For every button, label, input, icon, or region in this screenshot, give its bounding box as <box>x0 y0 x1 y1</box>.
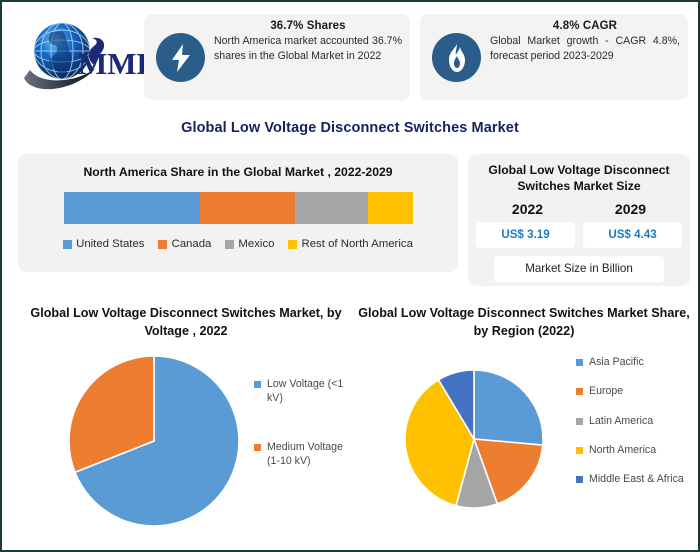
stat-card-cagr-title: 4.8% CAGR <box>490 20 680 34</box>
pie-legend-label: North America <box>589 443 656 457</box>
bar-chart-title: North America Share in the Global Market… <box>18 165 458 179</box>
bar-legend-label: Rest of North America <box>301 238 412 250</box>
bar-segment-rest-of-north-america <box>368 192 413 224</box>
pie-legend-item: North America <box>576 443 692 457</box>
pie-legend-item: Europe <box>576 384 692 398</box>
market-size-year-2022: 2022 <box>476 201 579 217</box>
pie-legend-label: Europe <box>589 384 623 398</box>
pie-legend-item: Medium Voltage (1-10 kV) <box>254 440 354 469</box>
market-size-title: Global Low Voltage Disconnect Switches M… <box>474 162 684 194</box>
stat-card-cagr-body: 4.8% CAGR Global Market growth - CAGR 4.… <box>490 20 680 64</box>
market-size-years: 2022 2029 <box>476 201 682 217</box>
stat-card-cagr: 4.8% CAGR Global Market growth - CAGR 4.… <box>420 14 688 100</box>
stacked-bar <box>64 192 413 224</box>
bar-segment-canada <box>200 192 295 224</box>
bar-legend-item: Rest of North America <box>288 238 412 250</box>
bar-segment-mexico <box>295 192 368 224</box>
infographic-canvas: MMR 36.7% Shares North America market ac… <box>0 0 700 552</box>
voltage-pie-legend: Low Voltage (<1 kV)Medium Voltage (1-10 … <box>254 377 354 502</box>
bar-chart-legend: United StatesCanadaMexicoRest of North A… <box>18 238 458 250</box>
stat-card-shares-text: North America market accounted 36.7% sha… <box>214 34 402 64</box>
legend-swatch-icon <box>63 240 72 249</box>
header-section: MMR 36.7% Shares North America market ac… <box>2 2 698 112</box>
pie-legend-item: Asia Pacific <box>576 355 692 369</box>
pie-slice-asia-pacific <box>474 370 543 445</box>
mmr-logo: MMR <box>16 12 144 104</box>
pie-legend-label: Medium Voltage (1-10 kV) <box>267 440 354 469</box>
voltage-pie-title: Global Low Voltage Disconnect Switches M… <box>16 305 356 341</box>
pie-legend-label: Middle East & Africa <box>589 472 684 486</box>
stat-card-shares: 36.7% Shares North America market accoun… <box>144 14 410 100</box>
market-size-panel: Global Low Voltage Disconnect Switches M… <box>468 154 690 286</box>
region-pie-graphic <box>404 369 544 509</box>
voltage-pie-graphic <box>68 355 240 527</box>
bar-legend-item: Canada <box>158 238 211 250</box>
globe-swoosh-logo: MMR <box>16 12 144 104</box>
pie-legend-label: Low Voltage (<1 kV) <box>267 377 354 406</box>
market-size-values: US$ 3.19 US$ 4.43 <box>476 222 682 248</box>
legend-swatch-icon <box>576 476 583 483</box>
stat-card-shares-title: 36.7% Shares <box>214 20 402 34</box>
pie-legend-label: Latin America <box>589 414 653 428</box>
bar-legend-item: United States <box>63 238 144 250</box>
legend-swatch-icon <box>254 444 261 451</box>
legend-swatch-icon <box>158 240 167 249</box>
market-size-year-2029: 2029 <box>579 201 682 217</box>
market-size-value-2029: US$ 4.43 <box>583 222 682 248</box>
stat-card-cagr-text: Global Market growth - CAGR 4.8%, foreca… <box>490 34 680 64</box>
north-america-share-chart: North America Share in the Global Market… <box>18 154 458 272</box>
legend-swatch-icon <box>576 447 583 454</box>
legend-swatch-icon <box>576 388 583 395</box>
stat-card-shares-body: 36.7% Shares North America market accoun… <box>214 20 402 64</box>
pie-legend-item: Middle East & Africa <box>576 472 692 486</box>
bar-segment-united-states <box>64 192 200 224</box>
legend-swatch-icon <box>576 359 583 366</box>
market-size-value-2022: US$ 3.19 <box>476 222 575 248</box>
region-pie-title: Global Low Voltage Disconnect Switches M… <box>358 305 690 341</box>
bar-legend-label: United States <box>76 238 144 250</box>
bar-legend-label: Canada <box>171 238 211 250</box>
market-size-unit-label: Market Size in Billion <box>494 256 664 282</box>
bar-legend-label: Mexico <box>238 238 274 250</box>
lightning-bolt-icon <box>156 33 205 82</box>
voltage-pie-chart: Global Low Voltage Disconnect Switches M… <box>16 297 356 547</box>
pie-legend-item: Latin America <box>576 414 692 428</box>
page-title: Global Low Voltage Disconnect Switches M… <box>2 120 698 136</box>
legend-swatch-icon <box>225 240 234 249</box>
legend-swatch-icon <box>576 418 583 425</box>
legend-swatch-icon <box>288 240 297 249</box>
flame-icon <box>432 33 481 82</box>
bar-legend-item: Mexico <box>225 238 274 250</box>
legend-swatch-icon <box>254 381 261 388</box>
region-pie-chart: Global Low Voltage Disconnect Switches M… <box>358 297 690 547</box>
svg-text:MMR: MMR <box>78 46 144 81</box>
region-pie-legend: Asia PacificEuropeLatin AmericaNorth Ame… <box>576 355 692 501</box>
pie-legend-label: Asia Pacific <box>589 355 644 369</box>
pie-legend-item: Low Voltage (<1 kV) <box>254 377 354 406</box>
